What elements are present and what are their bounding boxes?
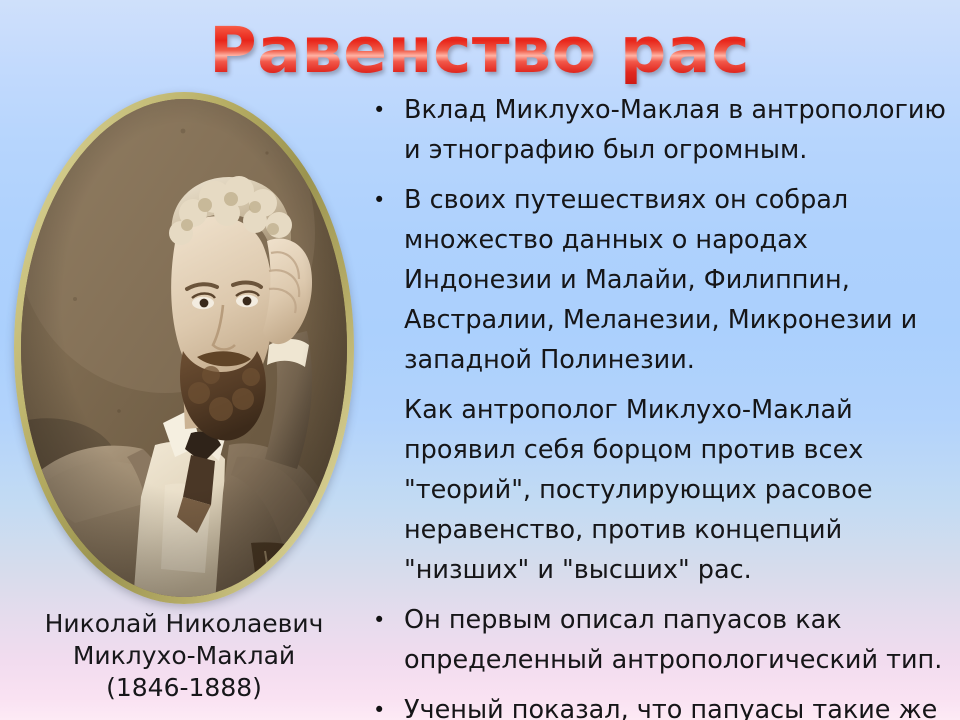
portrait-image-clip [21,99,347,597]
portrait-block: Николай Николаевич Миклухо-Маклай (1846-… [14,92,354,604]
portrait-photo-image [21,99,347,597]
portrait-oval-frame [14,92,354,604]
slide-body-text: Вклад Миклухо-Маклая в антропологию и эт… [366,90,952,720]
slide-title: Равенство рас [210,18,751,84]
bullet-paragraph: Ученый показал, что папуасы такие же [366,690,952,720]
bullet-paragraph: В своих путешествиях он собрал множество… [366,180,952,380]
caption-line-dates: (1846-1888) [4,672,364,704]
presentation-slide: Равенство рас [0,0,960,720]
caption-line-name: Николай Николаевич [4,608,364,640]
portrait-caption: Николай Николаевич Миклухо-Маклай (1846-… [4,608,364,704]
caption-line-surname: Миклухо-Маклай [4,640,364,672]
slide-title-container: Равенство рас [0,18,960,84]
bullet-paragraph: Вклад Миклухо-Маклая в антропологию и эт… [366,90,952,170]
plain-paragraph: Как антрополог Миклухо-Маклай проявил се… [366,390,952,590]
bullet-paragraph: Он первым описал папуасов как определенн… [366,600,952,680]
